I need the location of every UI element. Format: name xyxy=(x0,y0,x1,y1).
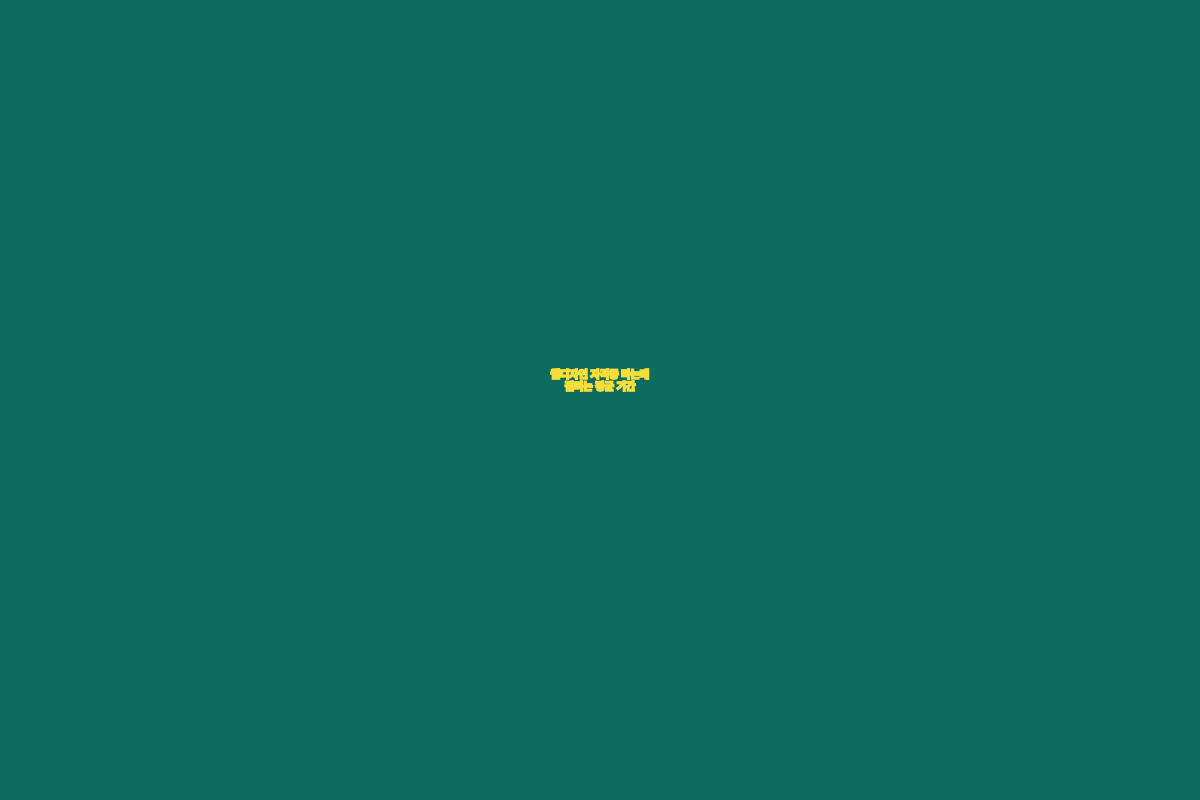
headline-line-2: 걸리는 평균 기간 xyxy=(0,382,1200,394)
headline-line-1: 웹디자인 자격증 따는데 xyxy=(0,370,1200,382)
headline-block: 웹디자인 자격증 따는데 걸리는 평균 기간 xyxy=(0,0,1200,800)
text-card: 웹디자인 자격증 따는데 걸리는 평균 기간 xyxy=(0,0,1200,800)
